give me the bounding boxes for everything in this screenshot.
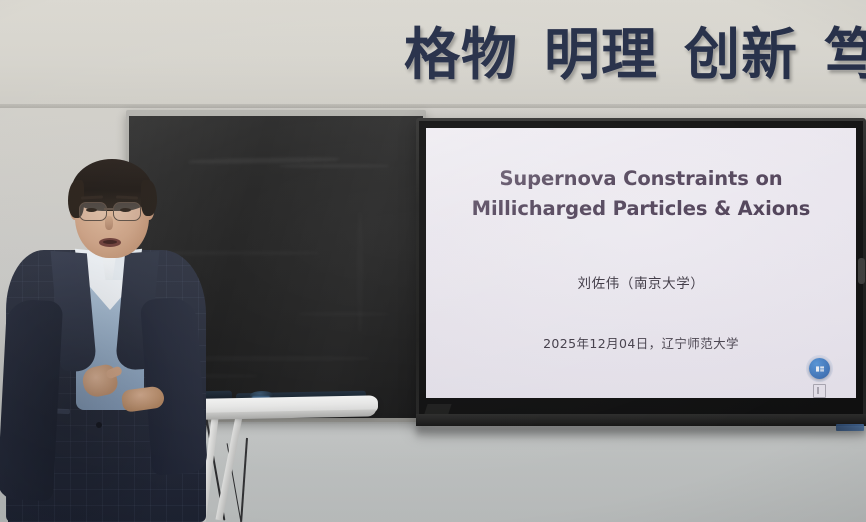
motto-word-3: 创新 bbox=[684, 28, 798, 84]
wall-motto: 格物 明理 创新 笃行 bbox=[404, 20, 866, 92]
display-base-shadow bbox=[416, 426, 866, 440]
motto-word-4: 笃行 bbox=[824, 28, 866, 84]
presenter-nose bbox=[105, 216, 113, 230]
presenter-hair-right bbox=[141, 180, 157, 216]
slide-title-line-1: Supernova Constraints on bbox=[450, 164, 832, 194]
app-badge-icon[interactable] bbox=[809, 358, 830, 379]
presenter-eye-right bbox=[120, 208, 131, 212]
document-thumbnail-icon bbox=[813, 384, 826, 398]
eyeglasses-bridge bbox=[104, 208, 114, 210]
slide-author: 刘佐伟（南京大学） bbox=[450, 272, 832, 292]
presenter-eye-left bbox=[86, 208, 97, 212]
presentation-slide[interactable]: Supernova Constraints on Millicharged Pa… bbox=[426, 128, 856, 398]
presenter-arm-left bbox=[0, 299, 63, 502]
display-bottom-strip bbox=[416, 414, 866, 426]
motto-word-1: 格物 bbox=[404, 28, 518, 84]
lecture-room-scene: 格物 明理 创新 笃行 Supernova Constraints on Mil… bbox=[0, 0, 866, 522]
slide-date-venue: 2025年12月04日，辽宁师范大学 bbox=[450, 333, 832, 352]
presenter bbox=[0, 150, 250, 522]
motto-word-2: 明理 bbox=[544, 28, 658, 84]
display-side-button[interactable] bbox=[858, 258, 865, 284]
slide-title: Supernova Constraints on Millicharged Pa… bbox=[450, 164, 832, 223]
jacket-button bbox=[96, 422, 102, 428]
presenter-mouth-inner bbox=[103, 240, 117, 244]
slide-title-line-2: Millicharged Particles & Axions bbox=[450, 194, 832, 224]
